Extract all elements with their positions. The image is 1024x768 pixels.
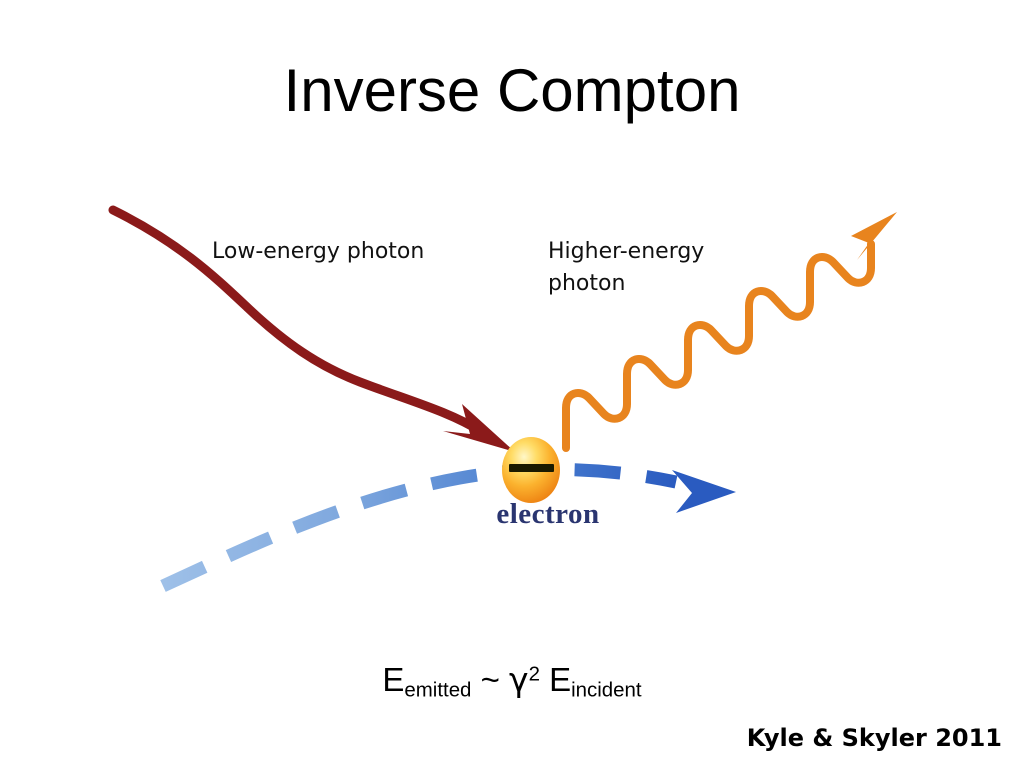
slide-canvas: Inverse Compton (0, 0, 1024, 768)
label-low-energy-photon: Low-energy photon (212, 236, 424, 268)
electron-trajectory-arrowhead (672, 470, 736, 513)
credit-line: Kyle & Skyler 2011 (747, 724, 1002, 752)
electron-particle (502, 437, 560, 503)
electron-minus-icon (509, 464, 554, 472)
formula-incident-subscript: incident (571, 679, 641, 702)
formula-emitted-subscript: emitted (404, 679, 471, 702)
inverse-compton-diagram (0, 0, 1024, 768)
formula-energy-relation: Eemitted ~ γ2 Eincident (0, 660, 1024, 703)
formula-e-emitted: E (382, 661, 404, 698)
label-higher-energy-photon: Higher-energy photon (548, 236, 704, 300)
formula-gamma-exponent: 2 (529, 662, 540, 685)
label-electron: electron (468, 498, 628, 531)
incoming-photon-arrowhead (443, 404, 515, 452)
formula-relation: ~ (471, 661, 509, 698)
formula-e-incident: E (549, 661, 571, 698)
formula-gamma: γ (509, 660, 529, 699)
electron-trajectory (163, 469, 736, 586)
